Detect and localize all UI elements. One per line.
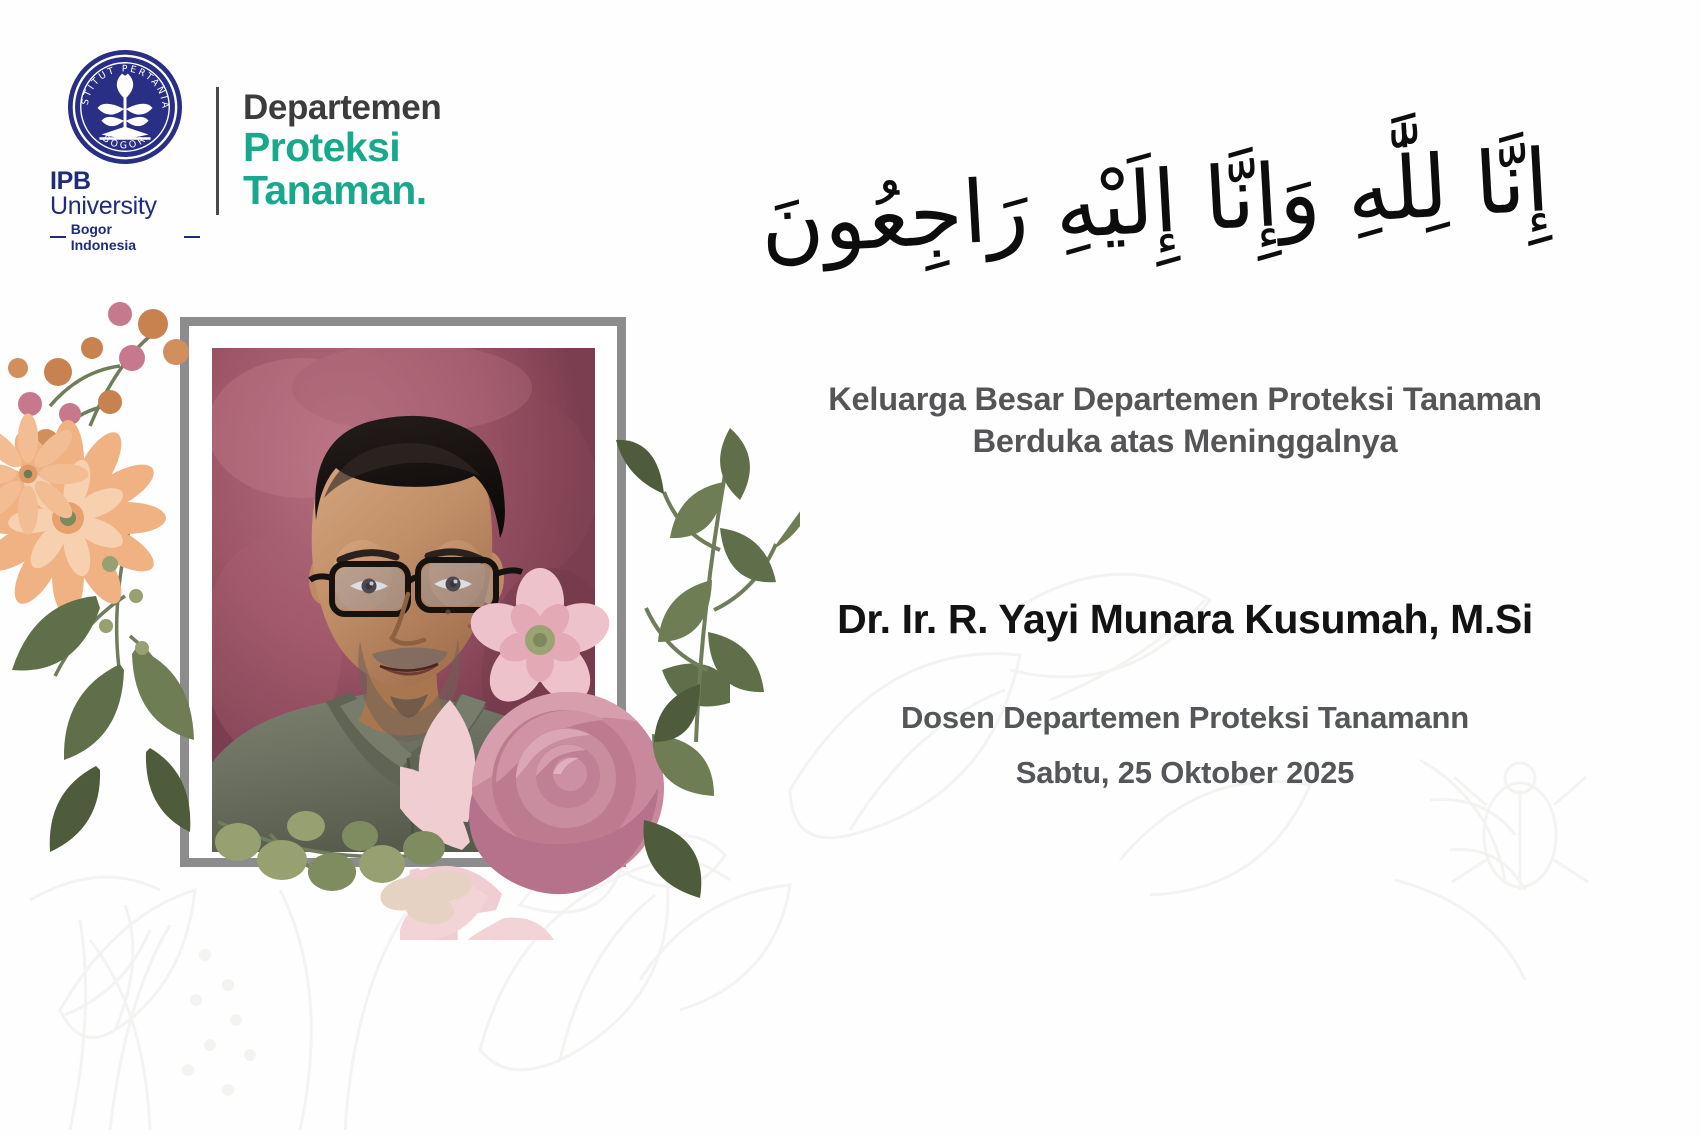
rule-right-icon xyxy=(184,236,200,238)
department-name: Departemen Proteksi Tanaman. xyxy=(243,90,441,210)
memorial-card: INSTITUT PERTANIAN BOGOR IPB University … xyxy=(0,0,1701,1138)
ipb-logo: INSTITUT PERTANIAN BOGOR IPB University … xyxy=(50,48,200,253)
brand-divider xyxy=(216,87,219,215)
ipb-location: Bogor Indonesia xyxy=(50,221,200,253)
memorial-date: Sabtu, 25 Oktober 2025 xyxy=(720,755,1650,791)
message-line-2: Berduka atas Meninggalnya xyxy=(720,420,1650,462)
arabic-text: إِنَّا لِلَّٰهِ وَإِنَّا إِلَيْهِ رَاجِع… xyxy=(758,123,1553,283)
message-line-1: Keluarga Besar Departemen Proteksi Tanam… xyxy=(720,378,1650,420)
brand-header: INSTITUT PERTANIAN BOGOR IPB University … xyxy=(50,48,441,253)
arabic-calligraphy: إِنَّا لِلَّٰهِ وَإِنَّا إِلَيْهِ رَاجِع… xyxy=(845,118,1465,288)
memorial-message: Keluarga Besar Departemen Proteksi Tanam… xyxy=(720,378,1650,463)
ipb-university-name: IPB University xyxy=(50,169,200,219)
ipb-seal-icon: INSTITUT PERTANIAN BOGOR xyxy=(66,48,184,166)
deceased-role: Dosen Departemen Proteksi Tanamann xyxy=(720,700,1650,736)
portrait-photo xyxy=(212,348,595,852)
deceased-name-suffix: , M.Si xyxy=(1428,596,1533,642)
deceased-name-main: Dr. Ir. R. Yayi Munara Kusumah xyxy=(837,596,1428,642)
deceased-name: Dr. Ir. R. Yayi Munara Kusumah, M.Si xyxy=(720,596,1650,643)
rule-left-icon xyxy=(50,236,66,238)
